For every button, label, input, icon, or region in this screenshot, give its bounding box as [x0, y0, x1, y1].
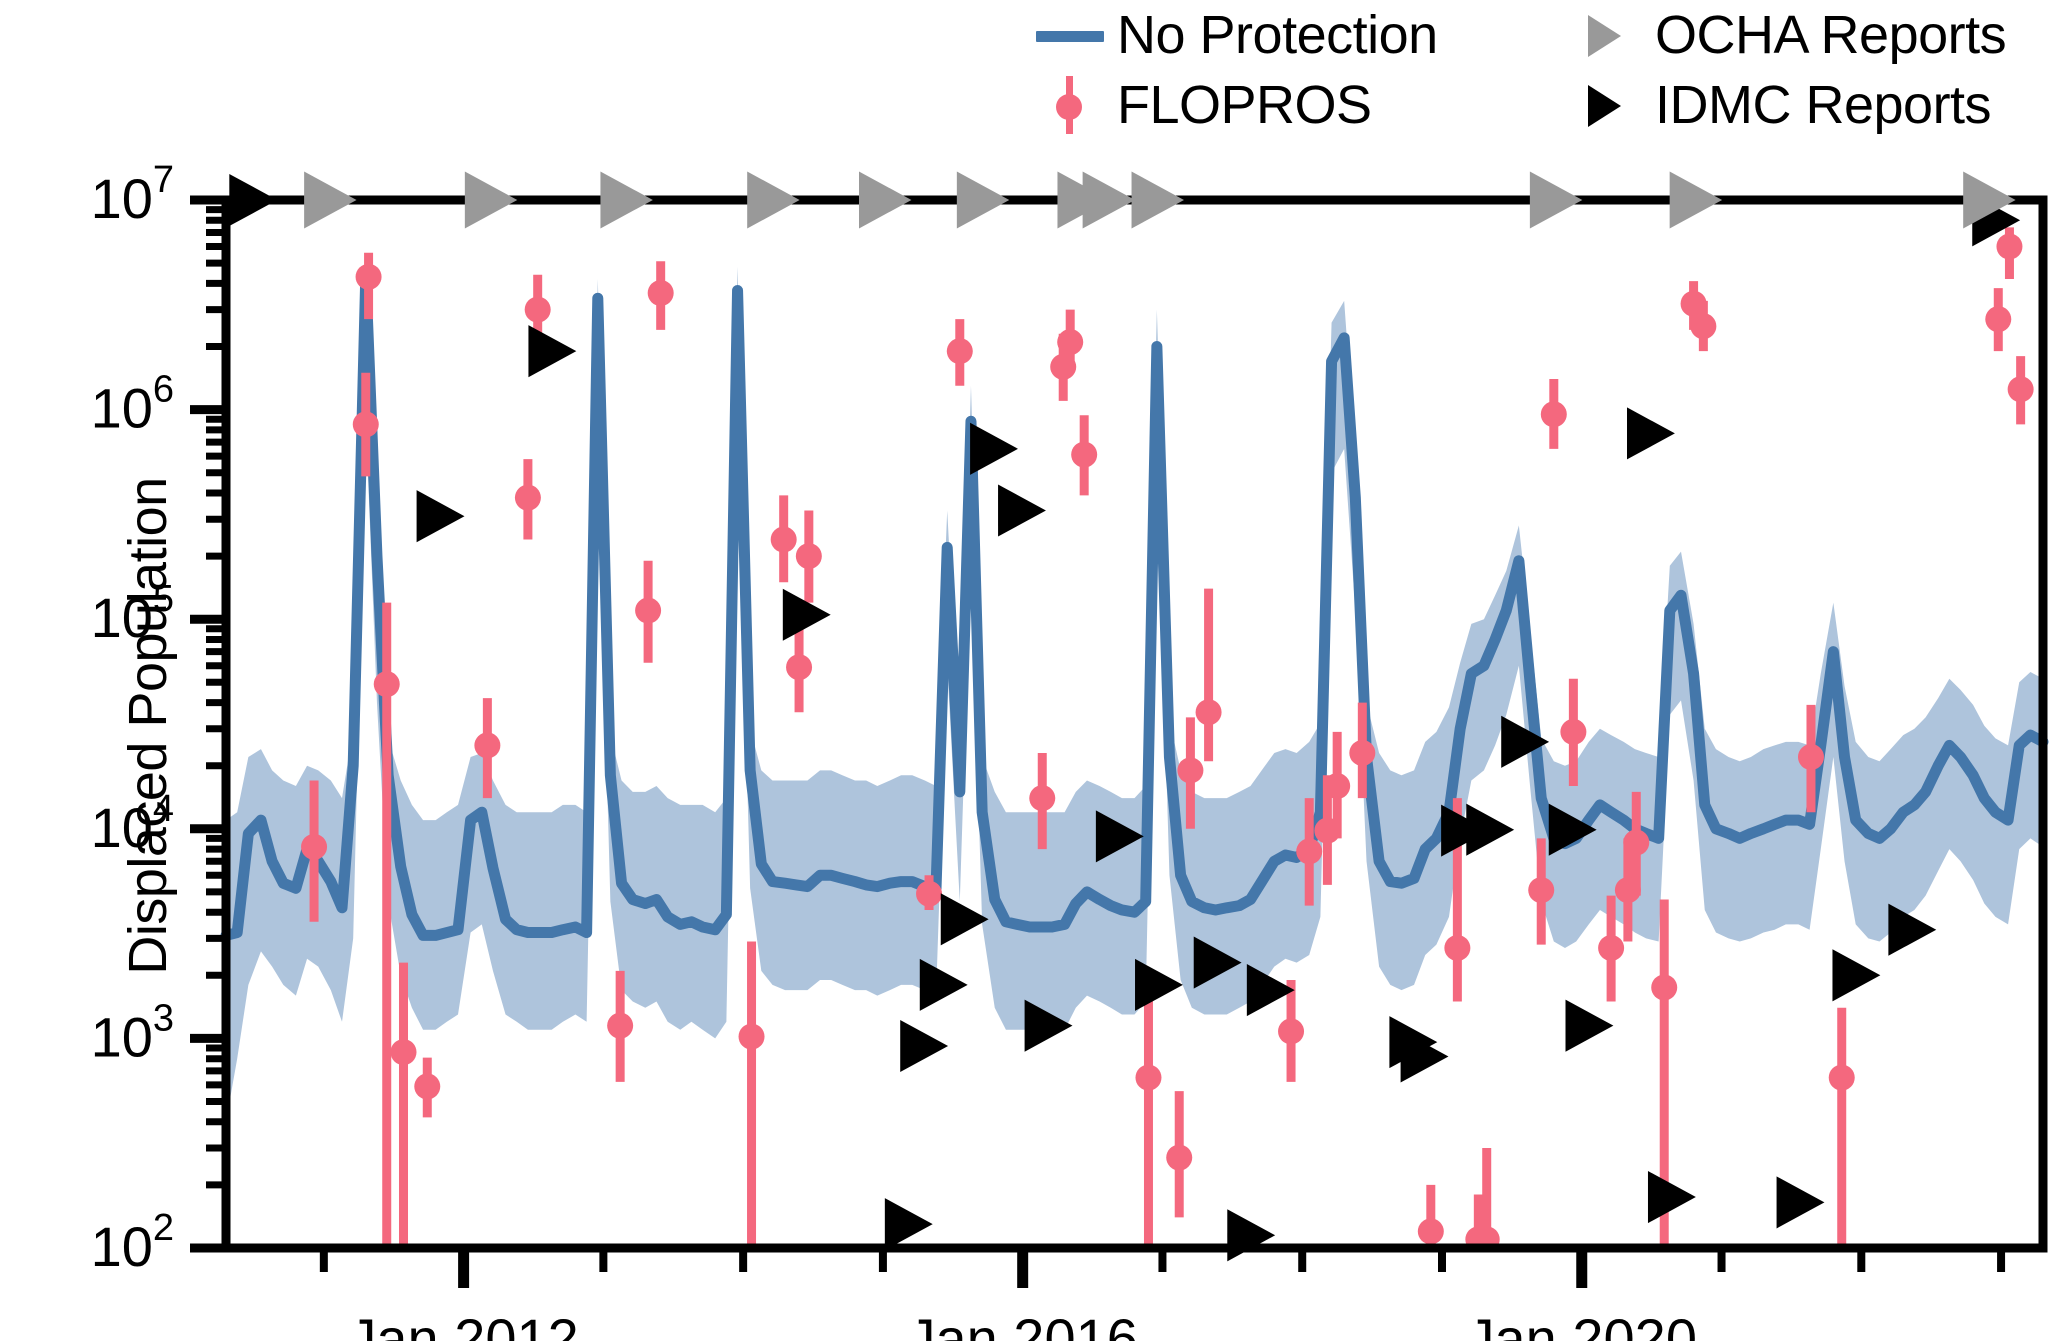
- ocha-marker: [600, 171, 652, 228]
- flopros-point: [1418, 1218, 1444, 1244]
- flopros-point: [525, 297, 551, 323]
- axis-ticks: [190, 200, 2001, 1288]
- flopros-point: [1829, 1065, 1855, 1091]
- idmc-marker: [1466, 804, 1514, 856]
- chart-figure: No Protection FLOPROS OCHA Reports: [0, 0, 2067, 1341]
- flopros-point: [607, 1013, 633, 1039]
- flopros-point: [771, 527, 797, 553]
- flopros-point: [1177, 757, 1203, 783]
- ocha-marker: [1530, 171, 1582, 228]
- flopros-point: [1985, 306, 2011, 332]
- y-tick-label: 103: [91, 997, 174, 1068]
- y-tick-label: 107: [91, 159, 174, 230]
- flopros-point: [301, 834, 327, 860]
- flopros-point: [1324, 773, 1350, 799]
- idmc-marker: [970, 423, 1018, 475]
- idmc-marker: [900, 1020, 948, 1072]
- idmc-marker: [1648, 1171, 1696, 1223]
- flopros-point: [1528, 877, 1554, 903]
- flopros-point: [356, 264, 382, 290]
- flopros-point: [1560, 719, 1586, 745]
- axis-frame: [226, 200, 2043, 1248]
- idmc-marker: [1227, 1209, 1275, 1261]
- flopros-point: [916, 881, 942, 907]
- flopros-point: [515, 485, 541, 511]
- flopros-point: [1029, 785, 1055, 811]
- ocha-marker: [1132, 171, 1184, 228]
- plot-area: 102103104105106107Jan 2012Jan 2016Jan 20…: [0, 0, 2067, 1341]
- idmc-markers: [229, 174, 2020, 1261]
- idmc-marker: [1832, 949, 1880, 1001]
- x-tick-label: Jan 2020: [1467, 1307, 1697, 1341]
- uncertainty-band: [226, 254, 2043, 1121]
- flopros-point: [1135, 1065, 1161, 1091]
- flopros-point: [1651, 974, 1677, 1000]
- flopros-point: [1057, 329, 1083, 355]
- flopros-point: [1798, 744, 1824, 770]
- idmc-marker: [920, 959, 968, 1011]
- flopros-point: [1623, 830, 1649, 856]
- band-polygon: [226, 254, 2043, 1121]
- ocha-marker: [957, 171, 1009, 228]
- flopros-point: [1166, 1145, 1192, 1171]
- y-tick-label: 102: [91, 1207, 174, 1278]
- ocha-marker: [1083, 171, 1135, 228]
- chart-svg: 102103104105106107Jan 2012Jan 2016Jan 20…: [0, 0, 2067, 1341]
- flopros-point: [739, 1024, 765, 1050]
- ocha-marker: [747, 171, 799, 228]
- flopros-point: [1349, 740, 1375, 766]
- ocha-marker: [859, 171, 911, 228]
- idmc-marker: [885, 1198, 933, 1250]
- ocha-marker: [1670, 171, 1722, 228]
- idmc-marker: [417, 490, 465, 542]
- idmc-marker: [1566, 1000, 1614, 1052]
- flopros-point: [648, 280, 674, 306]
- y-tick-label: 106: [91, 369, 174, 440]
- frame-rect: [226, 200, 2043, 1248]
- idmc-marker: [1777, 1176, 1825, 1228]
- flopros-point: [1278, 1018, 1304, 1044]
- flopros-point: [374, 671, 400, 697]
- flopros-point: [353, 411, 379, 437]
- flopros-point: [1444, 935, 1470, 961]
- idmc-marker: [941, 893, 989, 945]
- x-tick-label: Jan 2012: [348, 1307, 578, 1341]
- flopros-point: [786, 654, 812, 680]
- y-tick-label: 104: [91, 788, 174, 859]
- flopros-point: [1996, 233, 2022, 259]
- flopros-point: [1071, 442, 1097, 468]
- flopros-point: [414, 1073, 440, 1099]
- flopros-point: [391, 1039, 417, 1065]
- y-tick-label: 105: [91, 578, 174, 649]
- flopros-point: [1690, 313, 1716, 339]
- idmc-marker: [1135, 959, 1183, 1011]
- ocha-marker: [465, 171, 517, 228]
- flopros-point: [1598, 935, 1624, 961]
- flopros-point: [635, 598, 661, 624]
- flopros-point: [947, 338, 973, 364]
- flopros-point: [474, 732, 500, 758]
- flopros-point: [2008, 376, 2034, 402]
- x-tick-label: Jan 2016: [907, 1307, 1137, 1341]
- idmc-marker: [998, 484, 1046, 536]
- idmc-marker: [1888, 904, 1936, 956]
- ocha-marker: [304, 171, 356, 228]
- idmc-marker: [1627, 407, 1675, 459]
- flopros-point: [1541, 401, 1567, 427]
- flopros-point: [1296, 838, 1322, 864]
- flopros-point: [1196, 699, 1222, 725]
- flopros-point: [796, 543, 822, 569]
- idmc-marker: [528, 325, 576, 377]
